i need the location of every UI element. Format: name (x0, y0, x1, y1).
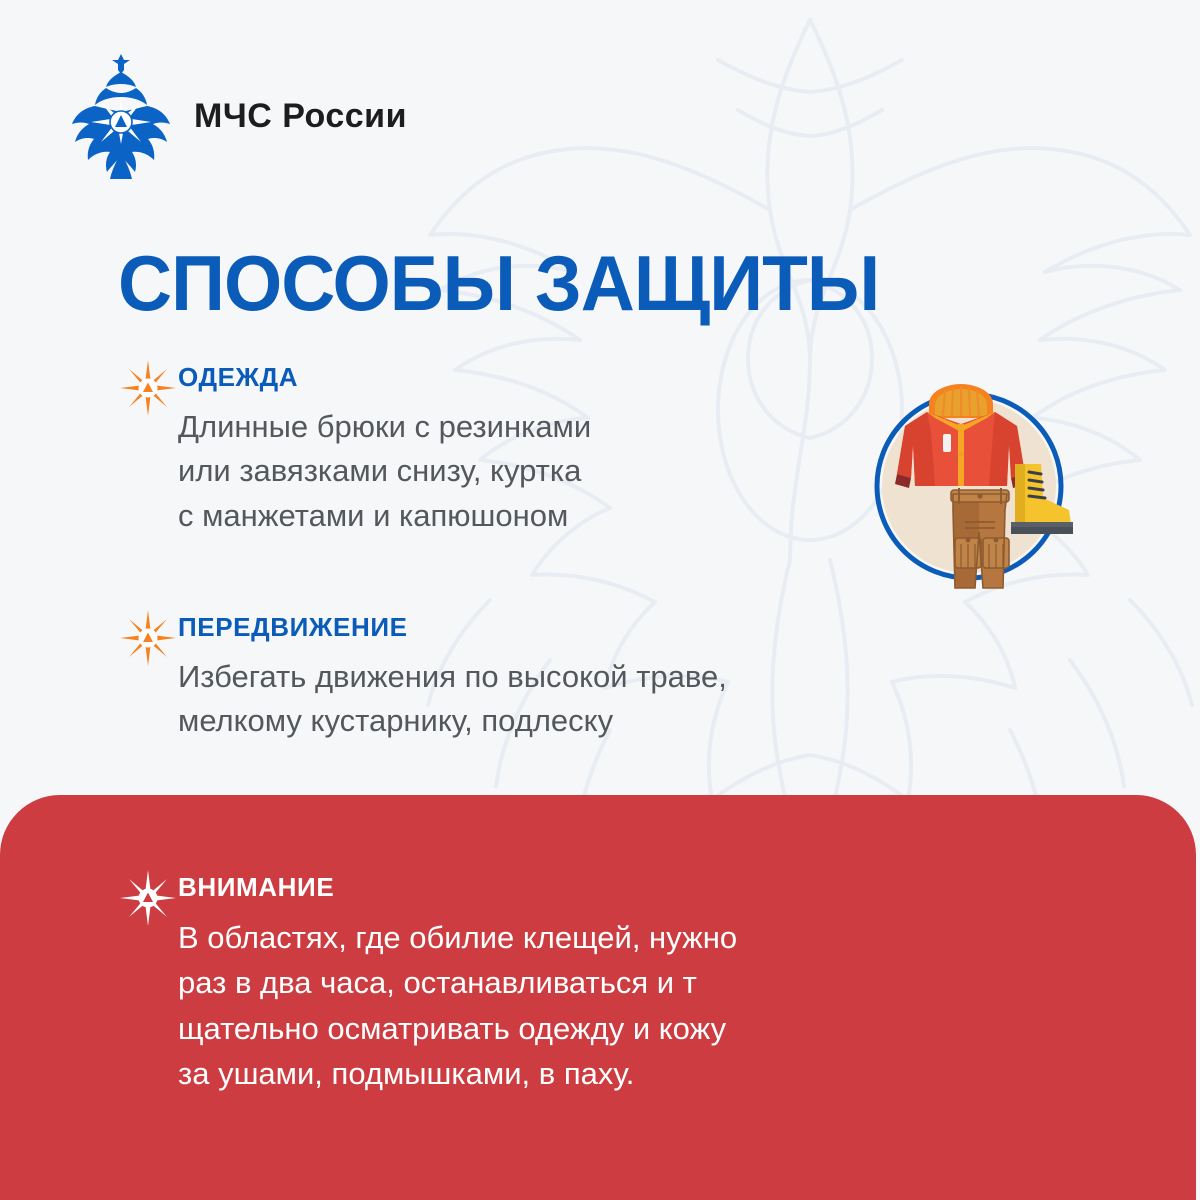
section-line: мелкому кустарнику, подлеску (178, 699, 727, 743)
section-heading: ОДЕЖДА (178, 362, 591, 393)
cargo-pants-icon (951, 488, 1009, 588)
emercom-star-icon (118, 358, 178, 418)
section-clothing: ОДЕЖДА Длинные брюки с резинками или зав… (118, 358, 591, 538)
attention-panel: ВНИМАНИЕ В областях, где обилие клещей, … (0, 795, 1196, 1200)
header: МЧС России (70, 52, 407, 180)
attention-heading: ВНИМАНИЕ (178, 872, 737, 903)
page-title: СПОСОБЫ ЗАЩИТЫ (118, 238, 879, 329)
section-line: Избегать движения по высокой траве, (178, 655, 727, 699)
attention-line: за ушами, подмышками, в паху. (178, 1051, 737, 1096)
section-line: Длинные брюки с резинками (178, 405, 591, 449)
emercom-eagle-emblem-icon (70, 52, 172, 180)
attention-body: ВНИМАНИЕ В областях, где обилие клещей, … (178, 868, 737, 1096)
emercom-star-icon (118, 868, 178, 928)
attention-content: ВНИМАНИЕ В областях, где обилие клещей, … (118, 868, 737, 1096)
infographic-poster: МЧС России СПОСОБЫ ЗАЩИТЫ (0, 0, 1200, 1200)
section-heading: ПЕРЕДВИЖЕНИЕ (178, 612, 727, 643)
section-clothing-body: ОДЕЖДА Длинные брюки с резинками или зав… (178, 358, 591, 538)
attention-line: щательно осматривать одежду и кожу (178, 1006, 737, 1051)
protective-clothing-illustration (865, 382, 1073, 590)
brand-name: МЧС России (194, 97, 407, 136)
section-line: с манжетами и капюшоном (178, 494, 591, 538)
attention-line: раз в два часа, останавливаться и т (178, 960, 737, 1005)
attention-line: В областях, где обилие клещей, нужно (178, 915, 737, 960)
emercom-star-icon (118, 608, 178, 668)
section-line: или завязками снизу, куртка (178, 449, 591, 493)
section-movement: ПЕРЕДВИЖЕНИЕ Избегать движения по высоко… (118, 608, 727, 744)
section-movement-body: ПЕРЕДВИЖЕНИЕ Избегать движения по высоко… (178, 608, 727, 744)
boot-icon (1011, 464, 1073, 534)
